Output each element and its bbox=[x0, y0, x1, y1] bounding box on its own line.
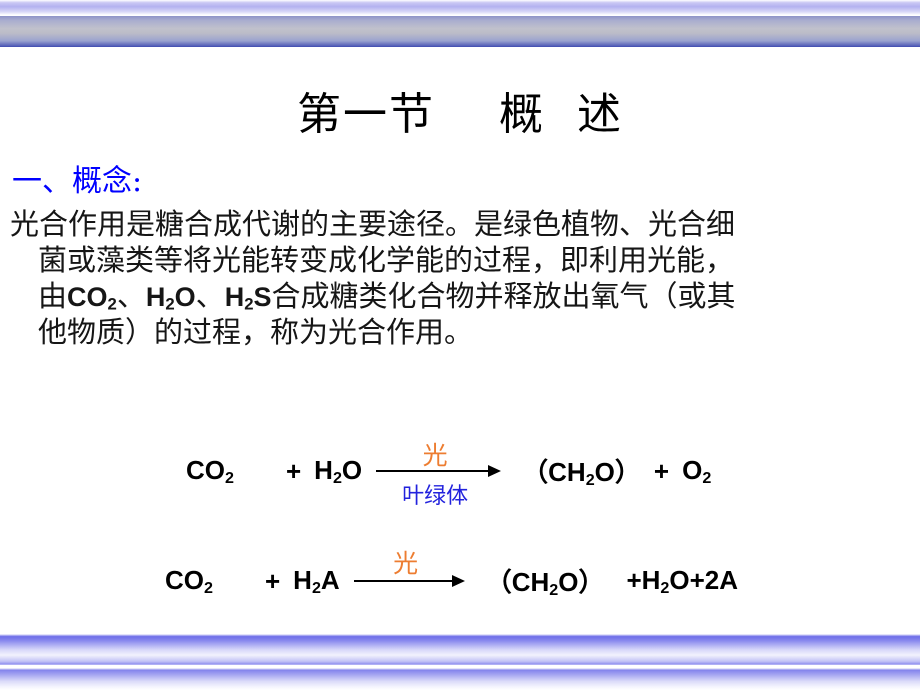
eq1-plus-1: + bbox=[286, 456, 301, 487]
eq2-arrow-above-label: 光 bbox=[354, 544, 458, 580]
eq2-arrow-line bbox=[354, 580, 458, 582]
bottom-decorative-bar-upper bbox=[0, 634, 920, 665]
body-paragraph: 光合作用是糖合成代谢的主要途径。是绿色植物、光合细 菌或藻类等将光能转变成化学能… bbox=[10, 206, 915, 350]
eq2-product-ch2o: （CH2O） bbox=[486, 562, 605, 600]
eq1-arrow-below-label: 叶绿体 bbox=[376, 478, 494, 510]
body-line-3-tail: 合成糖类化合物并释放出氧气（或其 bbox=[272, 279, 736, 313]
eq2-reactant-co2: CO2 bbox=[165, 565, 213, 598]
body-line-3: 由CO2、H2O、H2S合成糖类化合物并释放出氧气（或其 bbox=[10, 278, 915, 314]
eq1-product-ch2o: （CH2O） bbox=[522, 452, 641, 490]
eq1-product-o2: O2 bbox=[682, 455, 711, 488]
eq1-reactant-co2: CO2 bbox=[186, 455, 234, 488]
eq1-reactant-h2o: H2O bbox=[314, 455, 362, 488]
page-title: 第一节 概 述 bbox=[0, 88, 920, 142]
section-heading-concept: 一、概念: bbox=[12, 163, 142, 201]
eq1-reaction-arrow: 光 叶绿体 bbox=[376, 470, 508, 472]
body-line-3-prefix: 由 bbox=[38, 279, 67, 313]
top-decorative-bar-lower bbox=[0, 16, 920, 47]
top-decorative-bar-upper bbox=[0, 0, 920, 15]
equation-photosynthesis-general: CO2 + H2A 光 （CH2O） +H2O+2A bbox=[165, 562, 738, 600]
body-line-4: 他物质）的过程，称为光合作用。 bbox=[10, 314, 915, 350]
body-line-2: 菌或藻类等将光能转变成化学能的过程，即利用光能， bbox=[10, 242, 915, 278]
eq1-plus-2: + bbox=[654, 456, 669, 487]
slide-canvas: 第一节 概 述 一、概念: 光合作用是糖合成代谢的主要途径。是绿色植物、光合细 … bbox=[0, 0, 920, 690]
eq2-product-tail: +H2O+2A bbox=[626, 565, 738, 598]
eq2-reactant-h2a: H2A bbox=[293, 565, 340, 598]
eq1-arrow-head-icon bbox=[488, 465, 501, 477]
eq1-arrow-above-label: 光 bbox=[376, 436, 494, 472]
bottom-decorative-bar-lower bbox=[0, 668, 920, 690]
eq1-arrow-line bbox=[376, 470, 494, 472]
body-line-3-sep-1: 、 bbox=[117, 279, 146, 313]
body-line-3-sep-2: 、 bbox=[196, 279, 225, 313]
eq2-reaction-arrow: 光 bbox=[354, 580, 472, 582]
eq2-arrow-head-icon bbox=[452, 575, 465, 587]
equation-photosynthesis-oxygenic: CO2 + H2O 光 叶绿体 （CH2O） + O2 bbox=[186, 452, 711, 490]
formula-co2-inline: CO2 bbox=[67, 282, 117, 312]
formula-h2o-inline: H2O bbox=[146, 282, 196, 312]
body-line-1: 光合作用是糖合成代谢的主要途径。是绿色植物、光合细 bbox=[10, 206, 915, 242]
eq2-plus-1: + bbox=[265, 566, 280, 597]
formula-h2s-inline: H2S bbox=[225, 282, 272, 312]
